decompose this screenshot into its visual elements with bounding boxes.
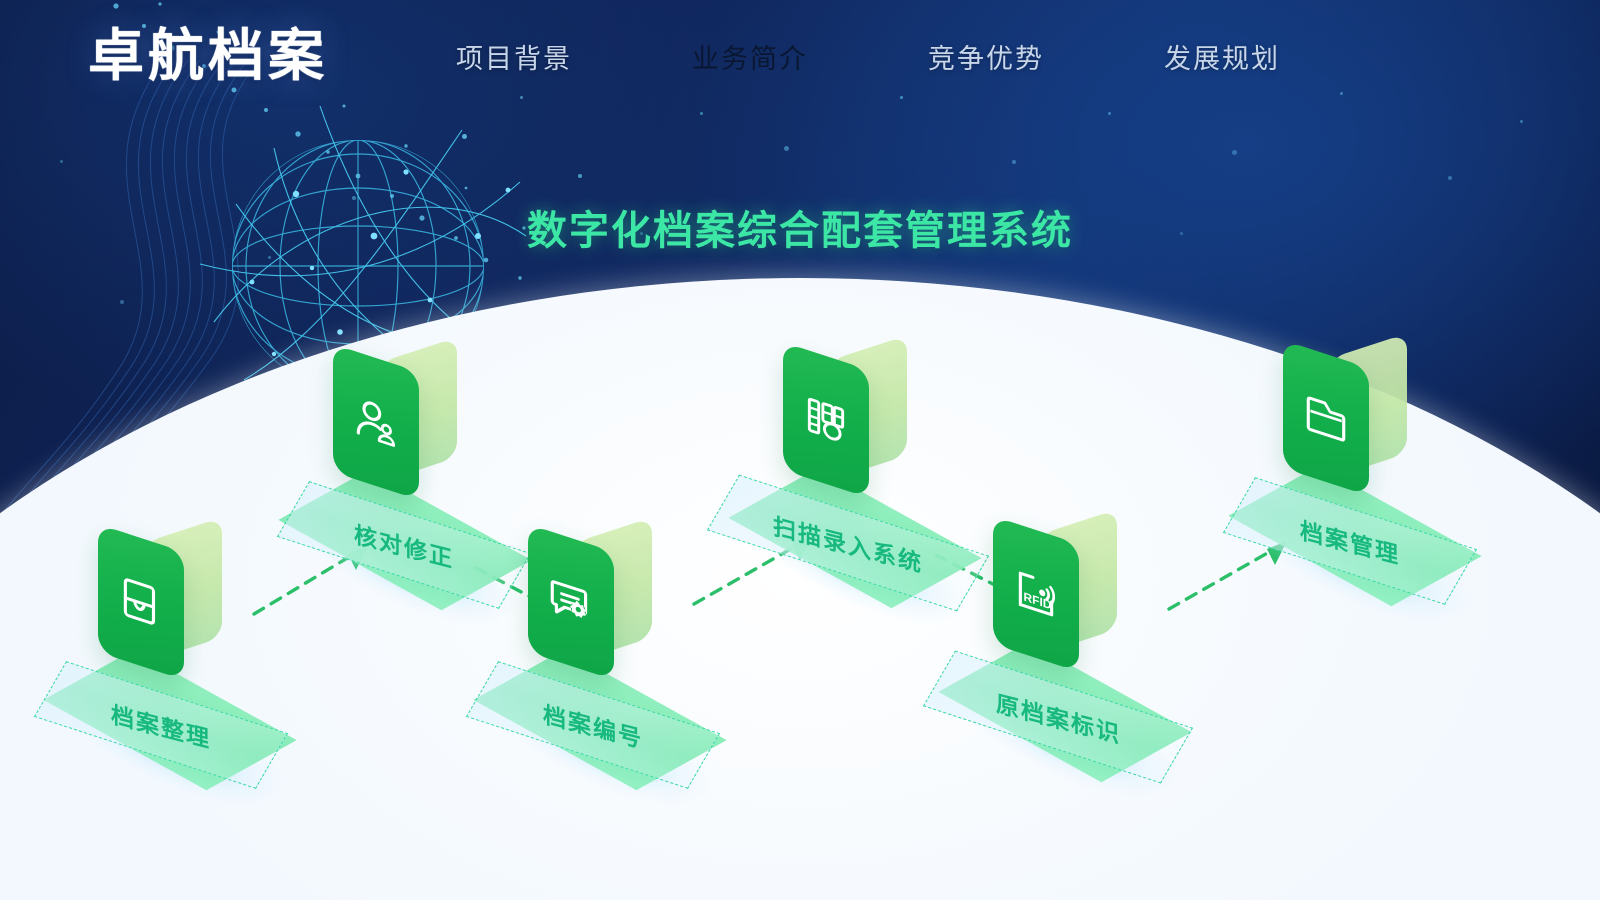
presentation-slide: 卓航档案 项目背景 业务简介 竞争优势 发展规划 数字化档案综合配套管理系统 (0, 0, 1600, 900)
document-gear-icon (546, 569, 596, 635)
nav-item-business-intro[interactable]: 业务简介 (692, 37, 808, 76)
step-label: 档案管理 (1300, 511, 1400, 570)
page-title-text: 数字化档案综合配套管理系统 (527, 209, 1073, 253)
folder-icon (1301, 385, 1351, 451)
flow-step-5: RFID 原档案标识 (955, 512, 1255, 812)
page-title: 数字化档案综合配套管理系统 (0, 198, 1600, 256)
workflow-diagram: 档案整理 核对修正 (0, 0, 1600, 900)
brand-logo[interactable]: 卓航档案 (88, 28, 328, 84)
site-header: 卓航档案 项目背景 业务简介 竞争优势 发展规划 (0, 0, 1600, 112)
nav-item-development-plan[interactable]: 发展规划 (1164, 37, 1280, 76)
flow-step-6: 档案管理 (1245, 336, 1545, 636)
step-label: 档案编号 (543, 695, 643, 754)
rfid-icon: RFID (1011, 561, 1061, 627)
step-label: 档案整理 (111, 695, 211, 754)
main-navigation: 项目背景 业务简介 竞争优势 发展规划 (456, 37, 1280, 76)
scanner-shelf-icon (801, 387, 851, 453)
nav-item-project-background[interactable]: 项目背景 (456, 37, 572, 76)
step-label: 核对修正 (354, 515, 454, 574)
document-scan-icon (116, 569, 166, 635)
user-check-icon (351, 389, 401, 455)
nav-item-competitive-advantage[interactable]: 竞争优势 (928, 37, 1044, 76)
